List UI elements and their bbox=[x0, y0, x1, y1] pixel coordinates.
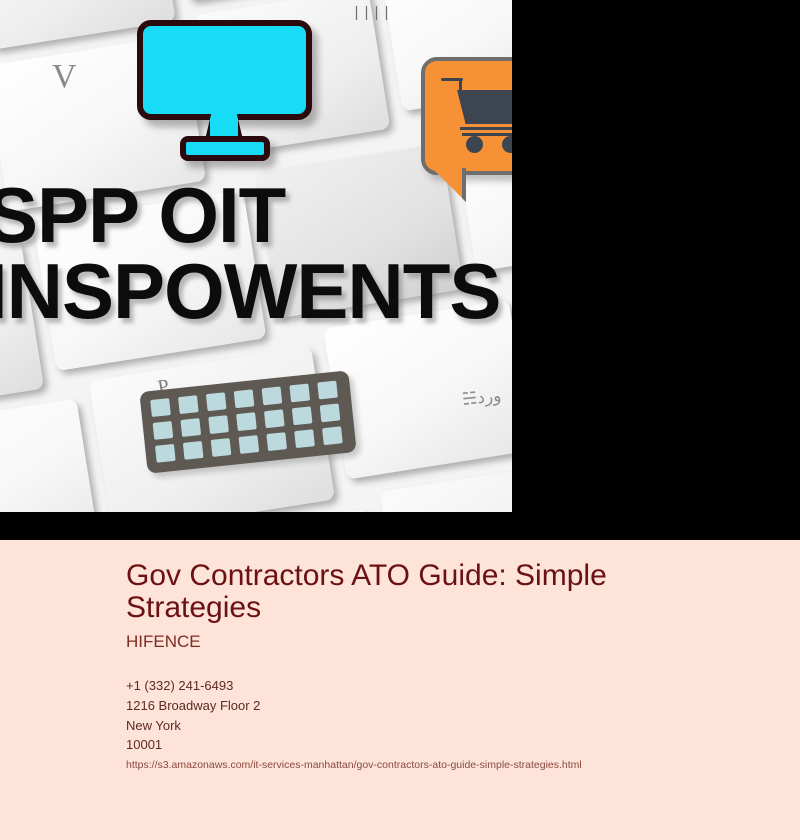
cart-rail-1 bbox=[460, 127, 512, 130]
cart-basket bbox=[457, 90, 512, 124]
monitor-base bbox=[180, 136, 270, 161]
key-glyph-ticks: |||| bbox=[352, 5, 392, 22]
cart-wheel-right bbox=[502, 136, 512, 153]
monitor-screen bbox=[137, 20, 312, 120]
contact-street: 1216 Broadway Floor 2 bbox=[126, 696, 746, 716]
key-glyph-v: V bbox=[52, 60, 77, 94]
thumbnail-card-page: V |||| P ☵ورد bbox=[0, 0, 800, 840]
brand-name: HIFENCE bbox=[126, 632, 201, 652]
contact-zip: 10001 bbox=[126, 735, 746, 755]
overlay-headline-line2: INSPOWENTS bbox=[0, 254, 512, 330]
cart-rail-2 bbox=[462, 133, 512, 136]
key-glyph-squiggle: ☵ورد bbox=[461, 386, 502, 410]
monitor-icon bbox=[137, 20, 312, 155]
overlay-headline-line1: SPP OIT bbox=[0, 178, 512, 254]
contact-phone[interactable]: +1 (332) 241-6493 bbox=[126, 676, 746, 696]
contact-city: New York bbox=[126, 716, 746, 736]
media-region: V |||| P ☵ورد bbox=[0, 0, 512, 512]
overlay-headline: SPP OIT INSPOWENTS bbox=[0, 178, 512, 329]
content-panel: Gov Contractors ATO Guide: Simple Strate… bbox=[0, 540, 800, 840]
contact-block: +1 (332) 241-6493 1216 Broadway Floor 2 … bbox=[126, 676, 746, 771]
shopping-cart-icon bbox=[440, 70, 512, 155]
source-url[interactable]: https://s3.amazonaws.com/it-services-man… bbox=[126, 759, 746, 771]
page-title: Gov Contractors ATO Guide: Simple Strate… bbox=[126, 560, 686, 625]
cart-wheel-left bbox=[466, 136, 483, 153]
